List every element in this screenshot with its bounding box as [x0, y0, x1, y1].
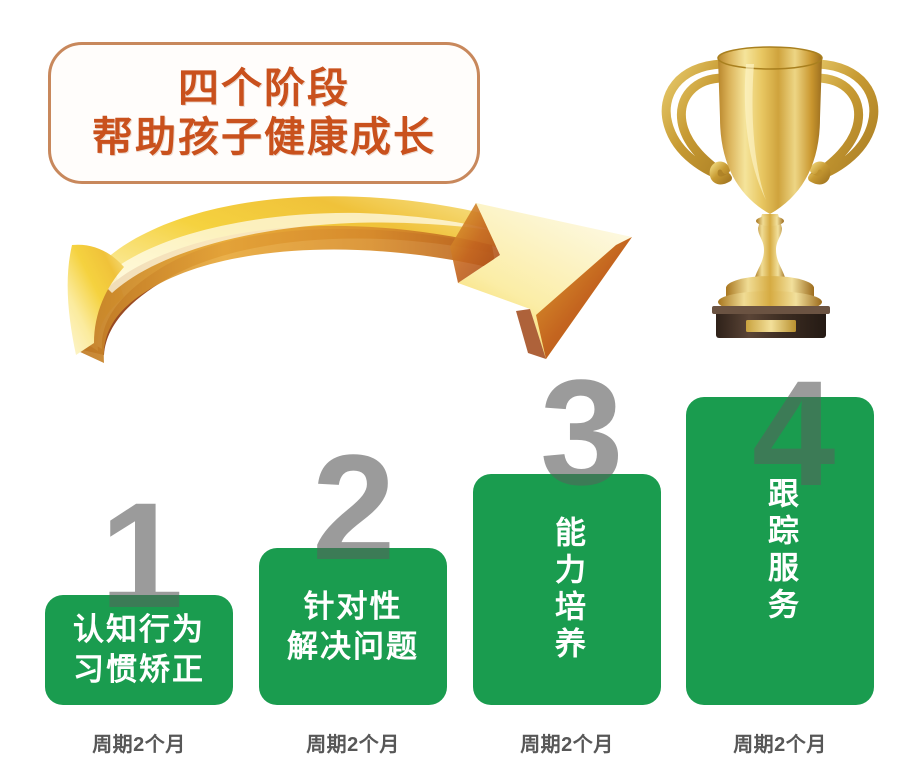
step-4-card[interactable]: 4 跟踪服务	[686, 397, 874, 705]
step-2-number-overlay: 2	[312, 548, 395, 582]
step-3-caption: 周期2个月	[473, 728, 661, 757]
title-line-2: 帮助孩子健康成长	[92, 116, 436, 159]
title-line-1: 四个阶段	[178, 67, 350, 110]
step-2-card[interactable]: 2 针对性 解决问题	[259, 548, 447, 705]
step-3-card[interactable]: 3 能力培养	[473, 474, 661, 705]
step-1-card[interactable]: 1 认知行为 习惯矫正	[45, 595, 233, 705]
step-1-caption: 周期2个月	[45, 728, 233, 757]
step-1-label: 认知行为 习惯矫正	[73, 610, 205, 689]
title-banner: 四个阶段 帮助孩子健康成长	[48, 42, 480, 184]
infographic-canvas: 四个阶段 帮助孩子健康成长	[0, 0, 900, 772]
step-2-label: 针对性 解决问题	[287, 587, 419, 666]
step-3-number-overlay: 3	[540, 474, 623, 507]
gold-trophy-icon	[650, 18, 890, 348]
step-2-caption: 周期2个月	[259, 728, 447, 757]
step-3-label: 能力培养	[550, 516, 584, 664]
step-4-caption: 周期2个月	[686, 728, 874, 757]
step-4-label: 跟踪服务	[763, 477, 797, 625]
